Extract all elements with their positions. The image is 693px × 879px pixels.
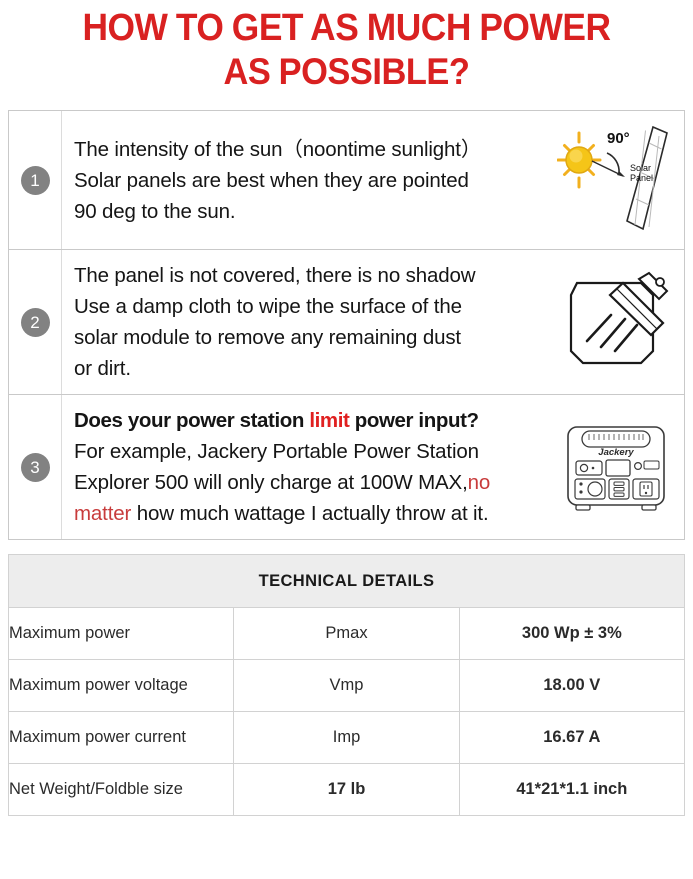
usb-port-3-icon bbox=[614, 493, 624, 496]
tech-row-0-symbol: Pmax bbox=[234, 608, 459, 660]
technical-details-header: TECHNICAL DETAILS bbox=[9, 555, 685, 608]
angle-label: 90° bbox=[607, 130, 630, 147]
station-led-2-icon bbox=[579, 490, 582, 493]
usb-port-2-icon bbox=[614, 488, 624, 491]
angle-arc-icon bbox=[607, 153, 619, 173]
table-row: Maximum power current Imp 16.67 A bbox=[9, 712, 685, 764]
solar-panel-label-line-2: Panel bbox=[630, 173, 653, 183]
step-3-body-line-3-black: how much wattage I actually throw at it. bbox=[131, 502, 488, 525]
step-1-artwork: 90° Solar P bbox=[556, 121, 680, 239]
station-display-icon bbox=[606, 460, 630, 476]
tech-row-3-value: 41*21*1.1 inch bbox=[459, 764, 684, 816]
step-text-2: The panel is not covered, there is no sh… bbox=[74, 260, 556, 384]
step-3-artwork: Jackery bbox=[556, 417, 680, 517]
step-item-3: 3 Does your power station limit power in… bbox=[9, 395, 684, 539]
step-2-line-2: Use a damp cloth to wipe the surface of … bbox=[74, 291, 556, 322]
step-badge-column-2: 2 bbox=[9, 250, 62, 394]
station-side-label-icon bbox=[644, 461, 659, 469]
indicator-dot-icon bbox=[592, 467, 595, 470]
step-3-heading-after: power input? bbox=[349, 409, 478, 432]
station-foot-right-icon bbox=[642, 505, 656, 510]
step-3-body-line-3: matter how much wattage I actually throw… bbox=[74, 498, 556, 529]
step-body-2: The panel is not covered, there is no sh… bbox=[62, 250, 684, 394]
step-2-artwork bbox=[556, 269, 680, 375]
table-row: Net Weight/Foldble size 17 lb 41*21*1.1 … bbox=[9, 764, 685, 816]
tech-row-1-value: 18.00 V bbox=[459, 660, 684, 712]
tech-row-0-label: Maximum power bbox=[9, 608, 234, 660]
station-dial-icon bbox=[588, 482, 602, 496]
usb-port-1-icon bbox=[614, 482, 624, 485]
step-3-body-line-2: Explorer 500 will only charge at 100W MA… bbox=[74, 467, 556, 498]
step-item-2: 2 The panel is not covered, there is no … bbox=[9, 250, 684, 395]
station-led-1-icon bbox=[579, 482, 582, 485]
step-3-heading: Does your power station limit power inpu… bbox=[74, 405, 556, 436]
tech-row-3-label: Net Weight/Foldble size bbox=[9, 764, 234, 816]
sun-highlight-icon bbox=[570, 150, 583, 163]
tech-row-3-symbol: 17 lb bbox=[234, 764, 459, 816]
tech-row-1-symbol: Vmp bbox=[234, 660, 459, 712]
page-title: HOW TO GET AS MUCH POWER AS POSSIBLE? bbox=[0, 0, 693, 102]
technical-details-table: TECHNICAL DETAILS Maximum power Pmax 300… bbox=[8, 554, 685, 816]
step-item-1: 1 The intensity of the sun（noontime sunl… bbox=[9, 111, 684, 250]
step-badge-column-3: 3 bbox=[9, 395, 62, 539]
step-3-body-line-2-black: Explorer 500 will only charge at 100W MA… bbox=[74, 471, 468, 494]
step-badge-column-1: 1 bbox=[9, 111, 62, 249]
step-1-line-3: 90 deg to the sun. bbox=[74, 196, 556, 227]
incident-ray-arrowhead-icon bbox=[617, 171, 625, 177]
squeegee-knob-icon bbox=[656, 278, 664, 286]
tech-row-1-label: Maximum power voltage bbox=[9, 660, 234, 712]
squeegee-cleaning-panel-icon bbox=[563, 269, 669, 375]
sun-angle-solar-panel-icon: 90° Solar P bbox=[557, 121, 675, 239]
station-brand-label: Jackery bbox=[598, 447, 634, 458]
solar-panel-label-line-1: Solar bbox=[630, 163, 651, 173]
tech-row-2-value: 16.67 A bbox=[459, 712, 684, 764]
step-number-badge-3: 3 bbox=[21, 453, 50, 482]
step-number-badge-1: 1 bbox=[21, 166, 50, 195]
station-handle-icon bbox=[582, 431, 650, 447]
tech-row-2-symbol: Imp bbox=[234, 712, 459, 764]
page-title-line-1: HOW TO GET AS MUCH POWER bbox=[30, 6, 663, 50]
step-1-line-1: The intensity of the sun（noontime sunlig… bbox=[74, 134, 556, 165]
step-body-3: Does your power station limit power inpu… bbox=[62, 395, 684, 539]
step-body-1: The intensity of the sun（noontime sunlig… bbox=[62, 111, 684, 249]
step-text-3: Does your power station limit power inpu… bbox=[74, 405, 556, 529]
step-2-line-1: The panel is not covered, there is no sh… bbox=[74, 260, 556, 291]
page-title-line-2: AS POSSIBLE? bbox=[30, 50, 663, 94]
step-2-line-4: or dirt. bbox=[74, 353, 556, 384]
step-text-1: The intensity of the sun（noontime sunlig… bbox=[74, 134, 556, 227]
step-3-body-line-2-red: no bbox=[468, 471, 491, 494]
station-foot-left-icon bbox=[576, 505, 590, 510]
jackery-power-station-icon: Jackery bbox=[562, 417, 670, 517]
step-1-line-2: Solar panels are best when they are poin… bbox=[74, 165, 556, 196]
table-row: Maximum power Pmax 300 Wp ± 3% bbox=[9, 608, 685, 660]
step-number-badge-2: 2 bbox=[21, 308, 50, 337]
step-3-body-line-1: For example, Jackery Portable Power Stat… bbox=[74, 436, 556, 467]
tech-row-0-value: 300 Wp ± 3% bbox=[459, 608, 684, 660]
step-2-line-3: solar module to remove any remaining dus… bbox=[74, 322, 556, 353]
power-button-icon bbox=[580, 464, 587, 471]
step-3-heading-highlight: limit bbox=[309, 409, 349, 432]
step-3-heading-before: Does your power station bbox=[74, 409, 309, 432]
tech-row-2-label: Maximum power current bbox=[9, 712, 234, 764]
steps-panel: 1 The intensity of the sun（noontime sunl… bbox=[8, 110, 685, 540]
dc-port-icon bbox=[635, 463, 642, 470]
step-3-body-line-3-red: matter bbox=[74, 502, 131, 525]
technical-details-header-row: TECHNICAL DETAILS bbox=[9, 555, 685, 608]
table-row: Maximum power voltage Vmp 18.00 V bbox=[9, 660, 685, 712]
